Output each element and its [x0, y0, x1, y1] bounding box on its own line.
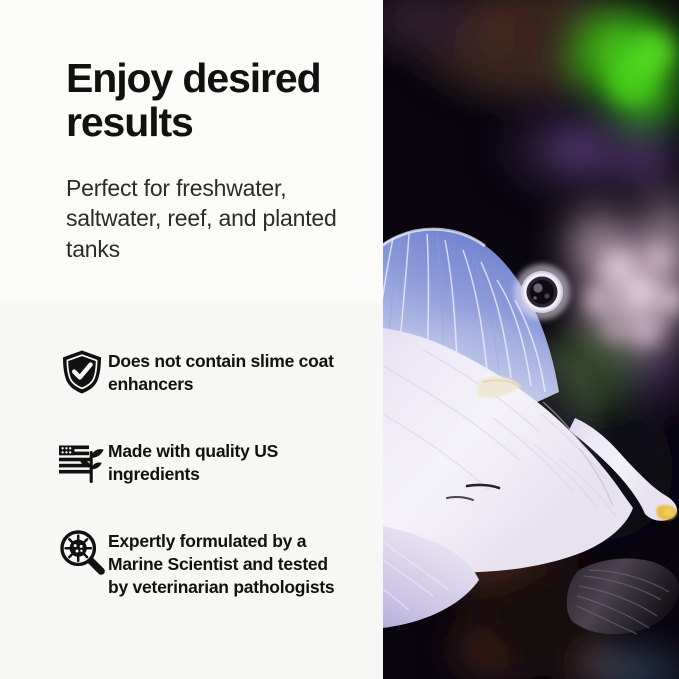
page-subtitle: Perfect for freshwater, saltwater, reef,…	[66, 173, 358, 265]
list-item-label: Does not contain slime coat enhancers	[108, 347, 340, 396]
list-item: Does not contain slime coat enhancers	[56, 347, 363, 397]
shield-check-icon	[56, 347, 108, 397]
product-feature-panel: Enjoy desired results Perfect for freshw…	[0, 0, 679, 679]
text-panel: Enjoy desired results Perfect for freshw…	[0, 0, 383, 679]
us-flag-plant-icon	[56, 437, 108, 487]
magnifier-microbe-icon	[56, 527, 108, 577]
list-item-label: Made with quality US ingredients	[108, 437, 340, 486]
product-photo	[383, 0, 679, 679]
feature-list: Does not contain slime coat enhancers	[0, 303, 383, 679]
hero-block: Enjoy desired results Perfect for freshw…	[0, 0, 383, 303]
list-item-label: Expertly formulated by a Marine Scientis…	[108, 527, 340, 599]
list-item: Expertly formulated by a Marine Scientis…	[56, 527, 363, 599]
page-title: Enjoy desired results	[66, 56, 361, 145]
list-item: Made with quality US ingredients	[56, 437, 363, 487]
